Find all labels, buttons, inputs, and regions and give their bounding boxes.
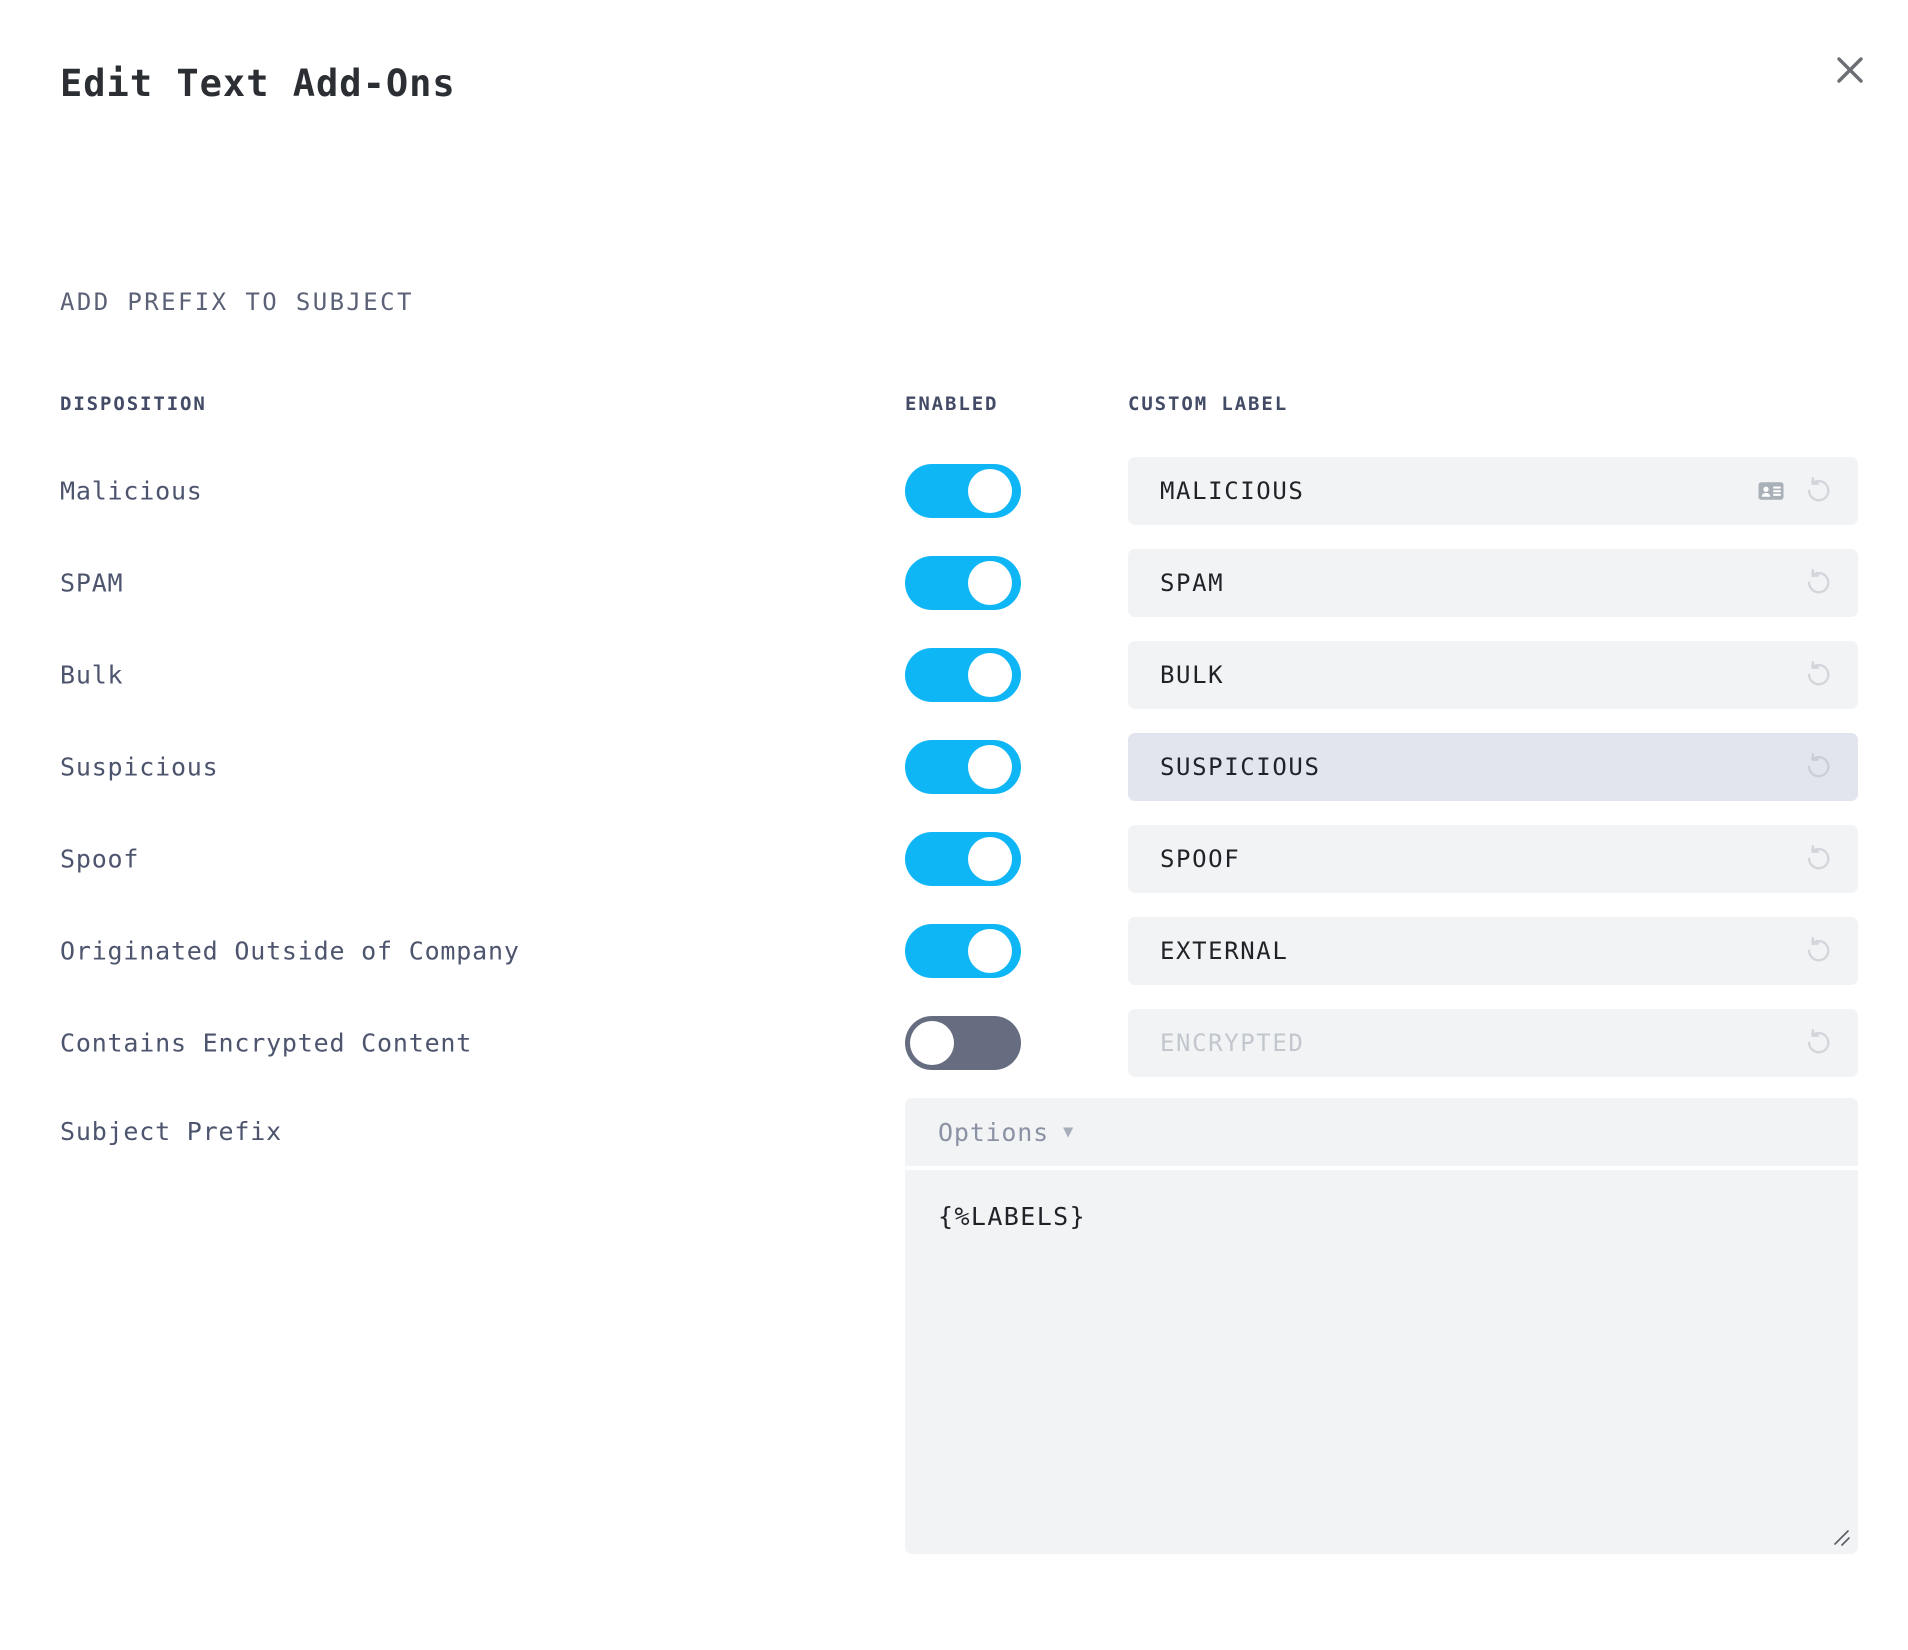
custom-label-value: SPOOF	[1160, 845, 1240, 873]
toggle-knob	[968, 745, 1012, 789]
custom-label-value: EXTERNAL	[1160, 937, 1288, 965]
enabled-toggle[interactable]	[905, 740, 1021, 794]
column-header-custom-label: CUSTOM LABEL	[1128, 393, 1288, 415]
field-icon-group	[1754, 474, 1836, 508]
enabled-toggle[interactable]	[905, 832, 1021, 886]
disposition-label: Bulk	[60, 661, 123, 690]
reset-icon[interactable]	[1802, 658, 1836, 692]
field-icon-group	[1802, 934, 1836, 968]
toggle-knob	[968, 929, 1012, 973]
reset-icon-glyph	[1803, 1027, 1835, 1059]
enabled-toggle[interactable]	[905, 556, 1021, 610]
table-row: MaliciousMALICIOUS	[0, 445, 1908, 537]
reset-icon-glyph	[1803, 843, 1835, 875]
options-label: Options	[938, 1118, 1049, 1147]
custom-label-input[interactable]: SPOOF	[1128, 825, 1858, 893]
disposition-label: Originated Outside of Company	[60, 937, 520, 966]
column-header-disposition: DISPOSITION	[60, 393, 207, 415]
field-icon-group	[1802, 750, 1836, 784]
reset-icon[interactable]	[1802, 750, 1836, 784]
chevron-down-icon: ▼	[1063, 1124, 1073, 1141]
close-icon	[1833, 53, 1867, 87]
reset-icon-glyph	[1803, 659, 1835, 691]
enabled-toggle[interactable]	[905, 924, 1021, 978]
disposition-label: Suspicious	[60, 753, 219, 782]
toggle-knob	[910, 1021, 954, 1065]
disposition-label: SPAM	[60, 569, 123, 598]
table-row: SPAMSPAM	[0, 537, 1908, 629]
disposition-label: Contains Encrypted Content	[60, 1029, 472, 1058]
field-icon-group	[1802, 842, 1836, 876]
subject-prefix-label: Subject Prefix	[60, 1117, 282, 1146]
disposition-label: Malicious	[60, 477, 203, 506]
custom-label-value: MALICIOUS	[1160, 477, 1304, 505]
custom-label-input[interactable]: SUSPICIOUS	[1128, 733, 1858, 801]
field-icon-group	[1802, 658, 1836, 692]
table-row: BulkBULK	[0, 629, 1908, 721]
toggle-knob	[968, 469, 1012, 513]
field-icon-group	[1802, 1026, 1836, 1060]
table-row: Originated Outside of CompanyEXTERNAL	[0, 905, 1908, 997]
options-dropdown-button[interactable]: Options ▼	[905, 1098, 1858, 1166]
reset-icon[interactable]	[1802, 842, 1836, 876]
edit-text-addons-modal: Edit Text Add-Ons ADD PREFIX TO SUBJECT …	[0, 0, 1908, 1650]
enabled-toggle[interactable]	[905, 1016, 1021, 1070]
custom-label-value: BULK	[1160, 661, 1224, 689]
reset-icon-glyph	[1803, 475, 1835, 507]
custom-label-input: ENCRYPTED	[1128, 1009, 1858, 1077]
subject-prefix-textarea[interactable]: {%LABELS}	[905, 1170, 1858, 1554]
table-row: Contains Encrypted ContentENCRYPTED	[0, 997, 1908, 1089]
disposition-label: Spoof	[60, 845, 139, 874]
reset-icon[interactable]	[1802, 934, 1836, 968]
toggle-knob	[968, 837, 1012, 881]
enabled-toggle[interactable]	[905, 648, 1021, 702]
section-header: ADD PREFIX TO SUBJECT	[60, 288, 414, 316]
reset-icon-glyph	[1803, 567, 1835, 599]
reset-icon[interactable]	[1802, 566, 1836, 600]
custom-label-value: SPAM	[1160, 569, 1224, 597]
column-header-enabled: ENABLED	[905, 393, 998, 415]
custom-label-input[interactable]: EXTERNAL	[1128, 917, 1858, 985]
custom-label-input[interactable]: SPAM	[1128, 549, 1858, 617]
custom-label-value: ENCRYPTED	[1160, 1029, 1304, 1057]
enabled-toggle[interactable]	[905, 464, 1021, 518]
toggle-knob	[968, 653, 1012, 697]
id-card-icon-glyph	[1756, 476, 1786, 506]
page-title: Edit Text Add-Ons	[60, 62, 456, 105]
reset-icon[interactable]	[1802, 1026, 1836, 1060]
reset-icon-glyph	[1803, 935, 1835, 967]
subject-prefix-textarea-value: {%LABELS}	[938, 1202, 1086, 1231]
resize-handle-icon[interactable]	[1828, 1524, 1852, 1548]
close-button[interactable]	[1822, 42, 1878, 98]
custom-label-input[interactable]: BULK	[1128, 641, 1858, 709]
toggle-knob	[968, 561, 1012, 605]
reset-icon-glyph	[1803, 751, 1835, 783]
id-card-icon[interactable]	[1754, 474, 1788, 508]
field-icon-group	[1802, 566, 1836, 600]
table-row: SpoofSPOOF	[0, 813, 1908, 905]
custom-label-value: SUSPICIOUS	[1160, 753, 1321, 781]
reset-icon[interactable]	[1802, 474, 1836, 508]
custom-label-input[interactable]: MALICIOUS	[1128, 457, 1858, 525]
table-row: SuspiciousSUSPICIOUS	[0, 721, 1908, 813]
